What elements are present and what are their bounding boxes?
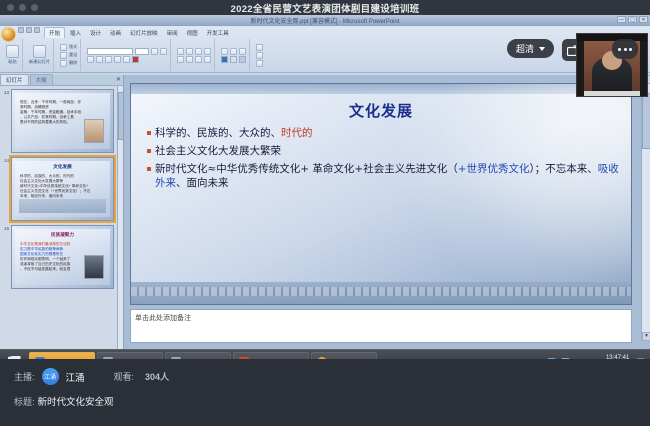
webcam-desk-surface (584, 91, 640, 96)
thumbnail-text: 科学的、民族的、大众的、时代的 社会主义文化大发展大繁荣 新时代文化≈中华优秀传… (20, 174, 105, 199)
taskbar-item-kk-live[interactable]: KK直播 (311, 352, 377, 360)
bullet-marker-icon (147, 167, 151, 171)
align-center-icon[interactable] (186, 56, 193, 63)
taskbar-item-powerpoint[interactable]: Microsoft PowerP... (233, 352, 309, 360)
list-item[interactable]: 15 民族凝聚力 中华文化是我们最深厚的文化软 实力是中华民族的精神命脉 国家文… (3, 225, 114, 289)
bullet-segment-highlight: 时代的 (281, 127, 313, 139)
slide-title[interactable]: 文化发展 (131, 100, 631, 121)
shape-format-row[interactable] (221, 56, 246, 63)
underline-icon[interactable] (105, 56, 112, 63)
replace-row[interactable] (256, 52, 263, 59)
minimize-button[interactable]: — (617, 16, 626, 23)
editor-scrollbar[interactable]: ▲ ▼ (641, 75, 650, 341)
ribbon-tab-slideshow[interactable]: 幻灯片放映 (126, 28, 162, 38)
notes-placeholder-text: 单击此处添加备注 (135, 313, 627, 323)
taskbar-item-documents-1[interactable]: 文档 (1) (97, 352, 163, 360)
avatar[interactable]: 江涌 (42, 368, 59, 385)
increase-font-icon[interactable] (151, 48, 158, 55)
more-dot-1-icon (618, 48, 621, 51)
thumbnail-text: 中华文化是我们最深厚的文化软 实力是中华民族的精神命脉 国家文化软实力的根基所在… (20, 242, 86, 272)
new-slide-icon[interactable] (33, 45, 46, 58)
find-icon[interactable] (256, 44, 263, 51)
bullet-item[interactable]: 社会主义文化大发展大繁荣 (147, 144, 619, 158)
thumbnail-canvas: 民族凝聚力 中华文化是我们最深厚的文化软 实力是中华民族的精神命脉 国家文化软实… (15, 229, 110, 285)
list-row[interactable] (177, 48, 211, 55)
maximize-button[interactable]: ▢ (628, 16, 637, 23)
thumbnail-number: 15 (3, 225, 9, 289)
ribbon-group-drawing (218, 39, 250, 71)
bullets-icon[interactable] (177, 48, 184, 55)
new-slide-label: 新建幻灯片 (29, 59, 50, 65)
player-titlebar: 2022全省民营文艺表演团体剧目建设培训班 (0, 0, 650, 15)
numbering-icon[interactable] (186, 48, 193, 55)
bullet-segment: 新时代文化≈中华优秀传统文化+ 革命文化+社会主义先进文化（ (155, 163, 458, 175)
layout-label: 版式 (69, 44, 77, 50)
thumbnail-number: 13 (3, 89, 9, 153)
decrease-font-icon[interactable] (160, 48, 167, 55)
arrange-icon[interactable] (230, 48, 237, 55)
thumbnail-list[interactable]: 13 现在、近来：千年时期，一般商品：非 常时期，战略物资 金融：千年时期，资金… (0, 86, 117, 359)
thumbnail-canvas: 现在、近来：千年时期，一般商品：非 常时期，战略物资 金融：千年时期，资金融通、… (15, 93, 110, 149)
ribbon-group-font (84, 39, 171, 71)
align-right-icon[interactable] (195, 56, 202, 63)
shapes-icon[interactable] (221, 48, 228, 55)
thumbnail-scrollbar[interactable] (117, 86, 123, 359)
slide-bottom-band (131, 282, 631, 304)
shape-effects-swatch[interactable] (239, 56, 246, 63)
shadow-icon[interactable] (114, 56, 121, 63)
shape-fill-swatch[interactable] (221, 56, 228, 63)
host-webcam-thumbnail[interactable] (576, 33, 648, 97)
powerpoint-window-buttons[interactable]: — ▢ ✕ (617, 16, 648, 23)
host-name: 江涌 (66, 370, 85, 384)
delete-label: 删除 (69, 60, 77, 66)
select-icon[interactable] (256, 60, 263, 67)
bullet-segment: 社会主义文化大发展大繁荣 (155, 145, 281, 157)
undo-icon[interactable] (26, 27, 32, 33)
thumbnail-footer-band (19, 199, 106, 213)
reset-icon[interactable] (60, 52, 67, 59)
ribbon-tab-review[interactable]: 审阅 (163, 28, 182, 38)
bold-icon[interactable] (87, 56, 94, 63)
bullet-segment: 科学的、民族的、大众的、 (155, 127, 281, 139)
ribbon-group-paragraph (174, 39, 215, 71)
ribbon-tab-design[interactable]: 设计 (86, 28, 105, 38)
close-icon[interactable]: ✕ (116, 76, 121, 83)
list-item[interactable]: 13 现在、近来：千年时期，一般商品：非 常时期，战略物资 金融：千年时期，资金… (3, 89, 114, 153)
thumbnail-canvas: 文化发展 科学的、民族的、大众的、时代的 社会主义文化大发展大繁荣 新时代文化≈… (15, 161, 110, 217)
host-label: 主播: (14, 370, 35, 383)
bullet-segment: 、面向未来 (176, 177, 229, 189)
editor-scrollbar-thumb[interactable] (642, 93, 650, 149)
bullet-item[interactable]: 新时代文化≈中华优秀传统文化+ 革命文化+社会主义先进文化（+世界优秀文化）；不… (147, 162, 619, 190)
ribbon-tab-strip[interactable]: 开始 插入 设计 动画 幻灯片放映 审阅 视图 开发工具 (0, 26, 650, 38)
find-row[interactable] (256, 44, 263, 51)
host-row: 主播: 江涌 江涌 观看: 304人 (14, 368, 636, 385)
ribbon-tab-view[interactable]: 视图 (183, 28, 202, 38)
stream-info-bar: 主播: 江涌 江涌 观看: 304人 标题: 新时代文化安全观 (0, 359, 650, 426)
thumbnail-line: 中华文化是我们最深厚的文化软 (20, 242, 70, 246)
delete-row[interactable]: 删除 (60, 60, 77, 67)
bullet-item[interactable]: 科学的、民族的、大众的、时代的 (147, 126, 619, 140)
chevron-down-icon (539, 47, 545, 51)
strikethrough-icon[interactable] (123, 56, 130, 63)
slide-thumbnail-13[interactable]: 现在、近来：千年时期，一般商品：非 常时期，战略物资 金融：千年时期，资金融通、… (11, 89, 114, 153)
topic-value: 新时代文化安全观 (38, 394, 114, 408)
slide-canvas[interactable]: 文化发展 科学的、民族的、大众的、时代的 (130, 83, 632, 305)
redo-icon[interactable] (34, 27, 40, 33)
slide-body-placeholder[interactable]: 科学的、民族的、大众的、时代的 社会主义文化大发展大繁荣 (147, 126, 619, 194)
font-color-swatch[interactable] (132, 56, 139, 63)
bullet-text: 科学的、民族的、大众的、时代的 (155, 126, 313, 140)
quality-selector[interactable]: 超清 (507, 39, 554, 58)
thumbnail-person-image (84, 255, 104, 279)
thumbnail-title: 民族凝聚力 (15, 232, 110, 238)
windows-taskbar[interactable]: IE浏览器 文档 (1) 文档 (1) Microsoft PowerP... … (0, 349, 650, 359)
tab-outline[interactable]: 大纲 (30, 74, 53, 85)
shapes-row[interactable] (221, 48, 246, 55)
ribbon-group-slides: 新建幻灯片 (26, 39, 54, 71)
thumbnail-title: 文化发展 (15, 164, 110, 170)
topic-label: 标题: (14, 395, 35, 408)
shape-outline-swatch[interactable] (230, 56, 237, 63)
live-stream-app: 2022全省民营文艺表演团体剧目建设培训班 新时代文化安全观.ppt [兼容模式… (0, 0, 650, 426)
increase-indent-icon[interactable] (204, 48, 211, 55)
powerpoint-titlebar: 新时代文化安全观.ppt [兼容模式] - Microsoft PowerPoi… (0, 15, 650, 26)
taskbar-item-browser[interactable]: IE浏览器 (29, 352, 95, 360)
scroll-down-arrow-icon[interactable]: ▼ (642, 332, 650, 341)
powerpoint-document-title: 新时代文化安全观.ppt [兼容模式] - Microsoft PowerPoi… (250, 16, 399, 25)
thumbnail-pane-tabs[interactable]: 幻灯片 大纲 ✕ (0, 75, 123, 86)
thumbnail-line: 国家文化软实力的根基所在 (20, 252, 63, 256)
quality-label: 超清 (516, 42, 534, 55)
ribbon-group-editing (253, 39, 266, 71)
slide-thumbnail-pane[interactable]: 幻灯片 大纲 ✕ 13 现在、近来：千年时期，一般商品：非 (0, 75, 124, 359)
player-window-title: 2022全省民营文艺表演团体剧目建设培训班 (0, 1, 650, 15)
thumbnail-line: ，不仅不可能发展起来，而且很 (20, 267, 86, 272)
font-family-combobox[interactable] (87, 48, 133, 55)
viewers-count: 304人 (145, 370, 169, 383)
ribbon-tab-insert[interactable]: 插入 (66, 28, 85, 38)
slide-editor[interactable]: 文化发展 科学的、民族的、大众的、时代的 (124, 75, 650, 359)
list-item[interactable]: 14 文化发展 科学的、民族的、大众的、时代的 社会主义文化大发展大繁荣 新时代… (3, 157, 114, 221)
layout-row[interactable]: 版式 (60, 44, 77, 51)
ribbon-group-slide-actions: 版式 重设 删除 (57, 39, 81, 71)
justify-icon[interactable] (204, 56, 211, 63)
quick-access-toolbar[interactable] (18, 27, 40, 33)
ribbon-group-clipboard: 粘贴 (3, 39, 23, 71)
powerpoint-window: 新时代文化安全观.ppt [兼容模式] - Microsoft PowerPoi… (0, 15, 650, 359)
ribbon-tab-animations[interactable]: 动画 (106, 28, 125, 38)
thumbnail-number: 14 (3, 157, 9, 221)
paste-label: 粘贴 (8, 59, 16, 65)
thumbnail-line: 实力是中华民族的精神命脉 (20, 247, 63, 251)
bullet-segment: ）；不忘本来、 (530, 163, 598, 175)
select-row[interactable] (256, 60, 263, 67)
align-left-icon[interactable] (177, 56, 184, 63)
viewers-label: 观看: (114, 370, 135, 383)
save-icon[interactable] (18, 27, 24, 33)
font-row[interactable] (87, 48, 167, 55)
replace-icon[interactable] (256, 52, 263, 59)
thumbnail-image (84, 119, 104, 143)
webcam-header-bar (577, 34, 647, 41)
shared-screen-stage[interactable]: 新时代文化安全观.ppt [兼容模式] - Microsoft PowerPoi… (0, 15, 650, 359)
notes-pane[interactable]: 单击此处添加备注 (130, 309, 632, 343)
align-row[interactable] (177, 56, 211, 63)
more-dot-2-icon (624, 48, 627, 51)
italic-icon[interactable] (96, 56, 103, 63)
bullet-segment-highlight: +世界优秀文化 (458, 163, 530, 175)
paste-icon[interactable] (6, 45, 19, 58)
close-button[interactable]: ✕ (639, 16, 648, 23)
ribbon-tab-home[interactable]: 开始 (44, 27, 65, 38)
font-size-combobox[interactable] (135, 48, 149, 55)
font-style-row[interactable] (87, 56, 139, 63)
slide-thumbnail-14[interactable]: 文化发展 科学的、民族的、大众的、时代的 社会主义文化大发展大繁荣 新时代文化≈… (11, 157, 114, 221)
slide-canvas-wrapper[interactable]: 文化发展 科学的、民族的、大众的、时代的 (130, 83, 632, 305)
windows-start-button[interactable] (0, 350, 28, 360)
tab-slides[interactable]: 幻灯片 (0, 74, 29, 85)
bullet-marker-icon (147, 131, 151, 135)
bullet-text: 社会主义文化大发展大繁荣 (155, 144, 281, 158)
taskbar-item-documents-2[interactable]: 文档 (1) (165, 352, 231, 360)
layout-icon[interactable] (60, 44, 67, 51)
reset-label: 重设 (69, 52, 77, 58)
more-dot-3-icon (629, 48, 632, 51)
decrease-indent-icon[interactable] (195, 48, 202, 55)
powerpoint-workspace: 幻灯片 大纲 ✕ 13 现在、近来：千年时期，一般商品：非 (0, 75, 650, 359)
reset-row[interactable]: 重设 (60, 52, 77, 59)
bullet-marker-icon (147, 149, 151, 153)
topic-row: 标题: 新时代文化安全观 (14, 394, 636, 408)
bullet-text: 新时代文化≈中华优秀传统文化+ 革命文化+社会主义先进文化（+世界优秀文化）；不… (155, 162, 619, 190)
delete-icon[interactable] (60, 60, 67, 67)
slide-thumbnail-15[interactable]: 民族凝聚力 中华文化是我们最深厚的文化软 实力是中华民族的精神命脉 国家文化软实… (11, 225, 114, 289)
ribbon-tab-developer[interactable]: 开发工具 (203, 28, 233, 38)
more-options-button[interactable] (612, 39, 638, 59)
quick-styles-icon[interactable] (239, 48, 246, 55)
